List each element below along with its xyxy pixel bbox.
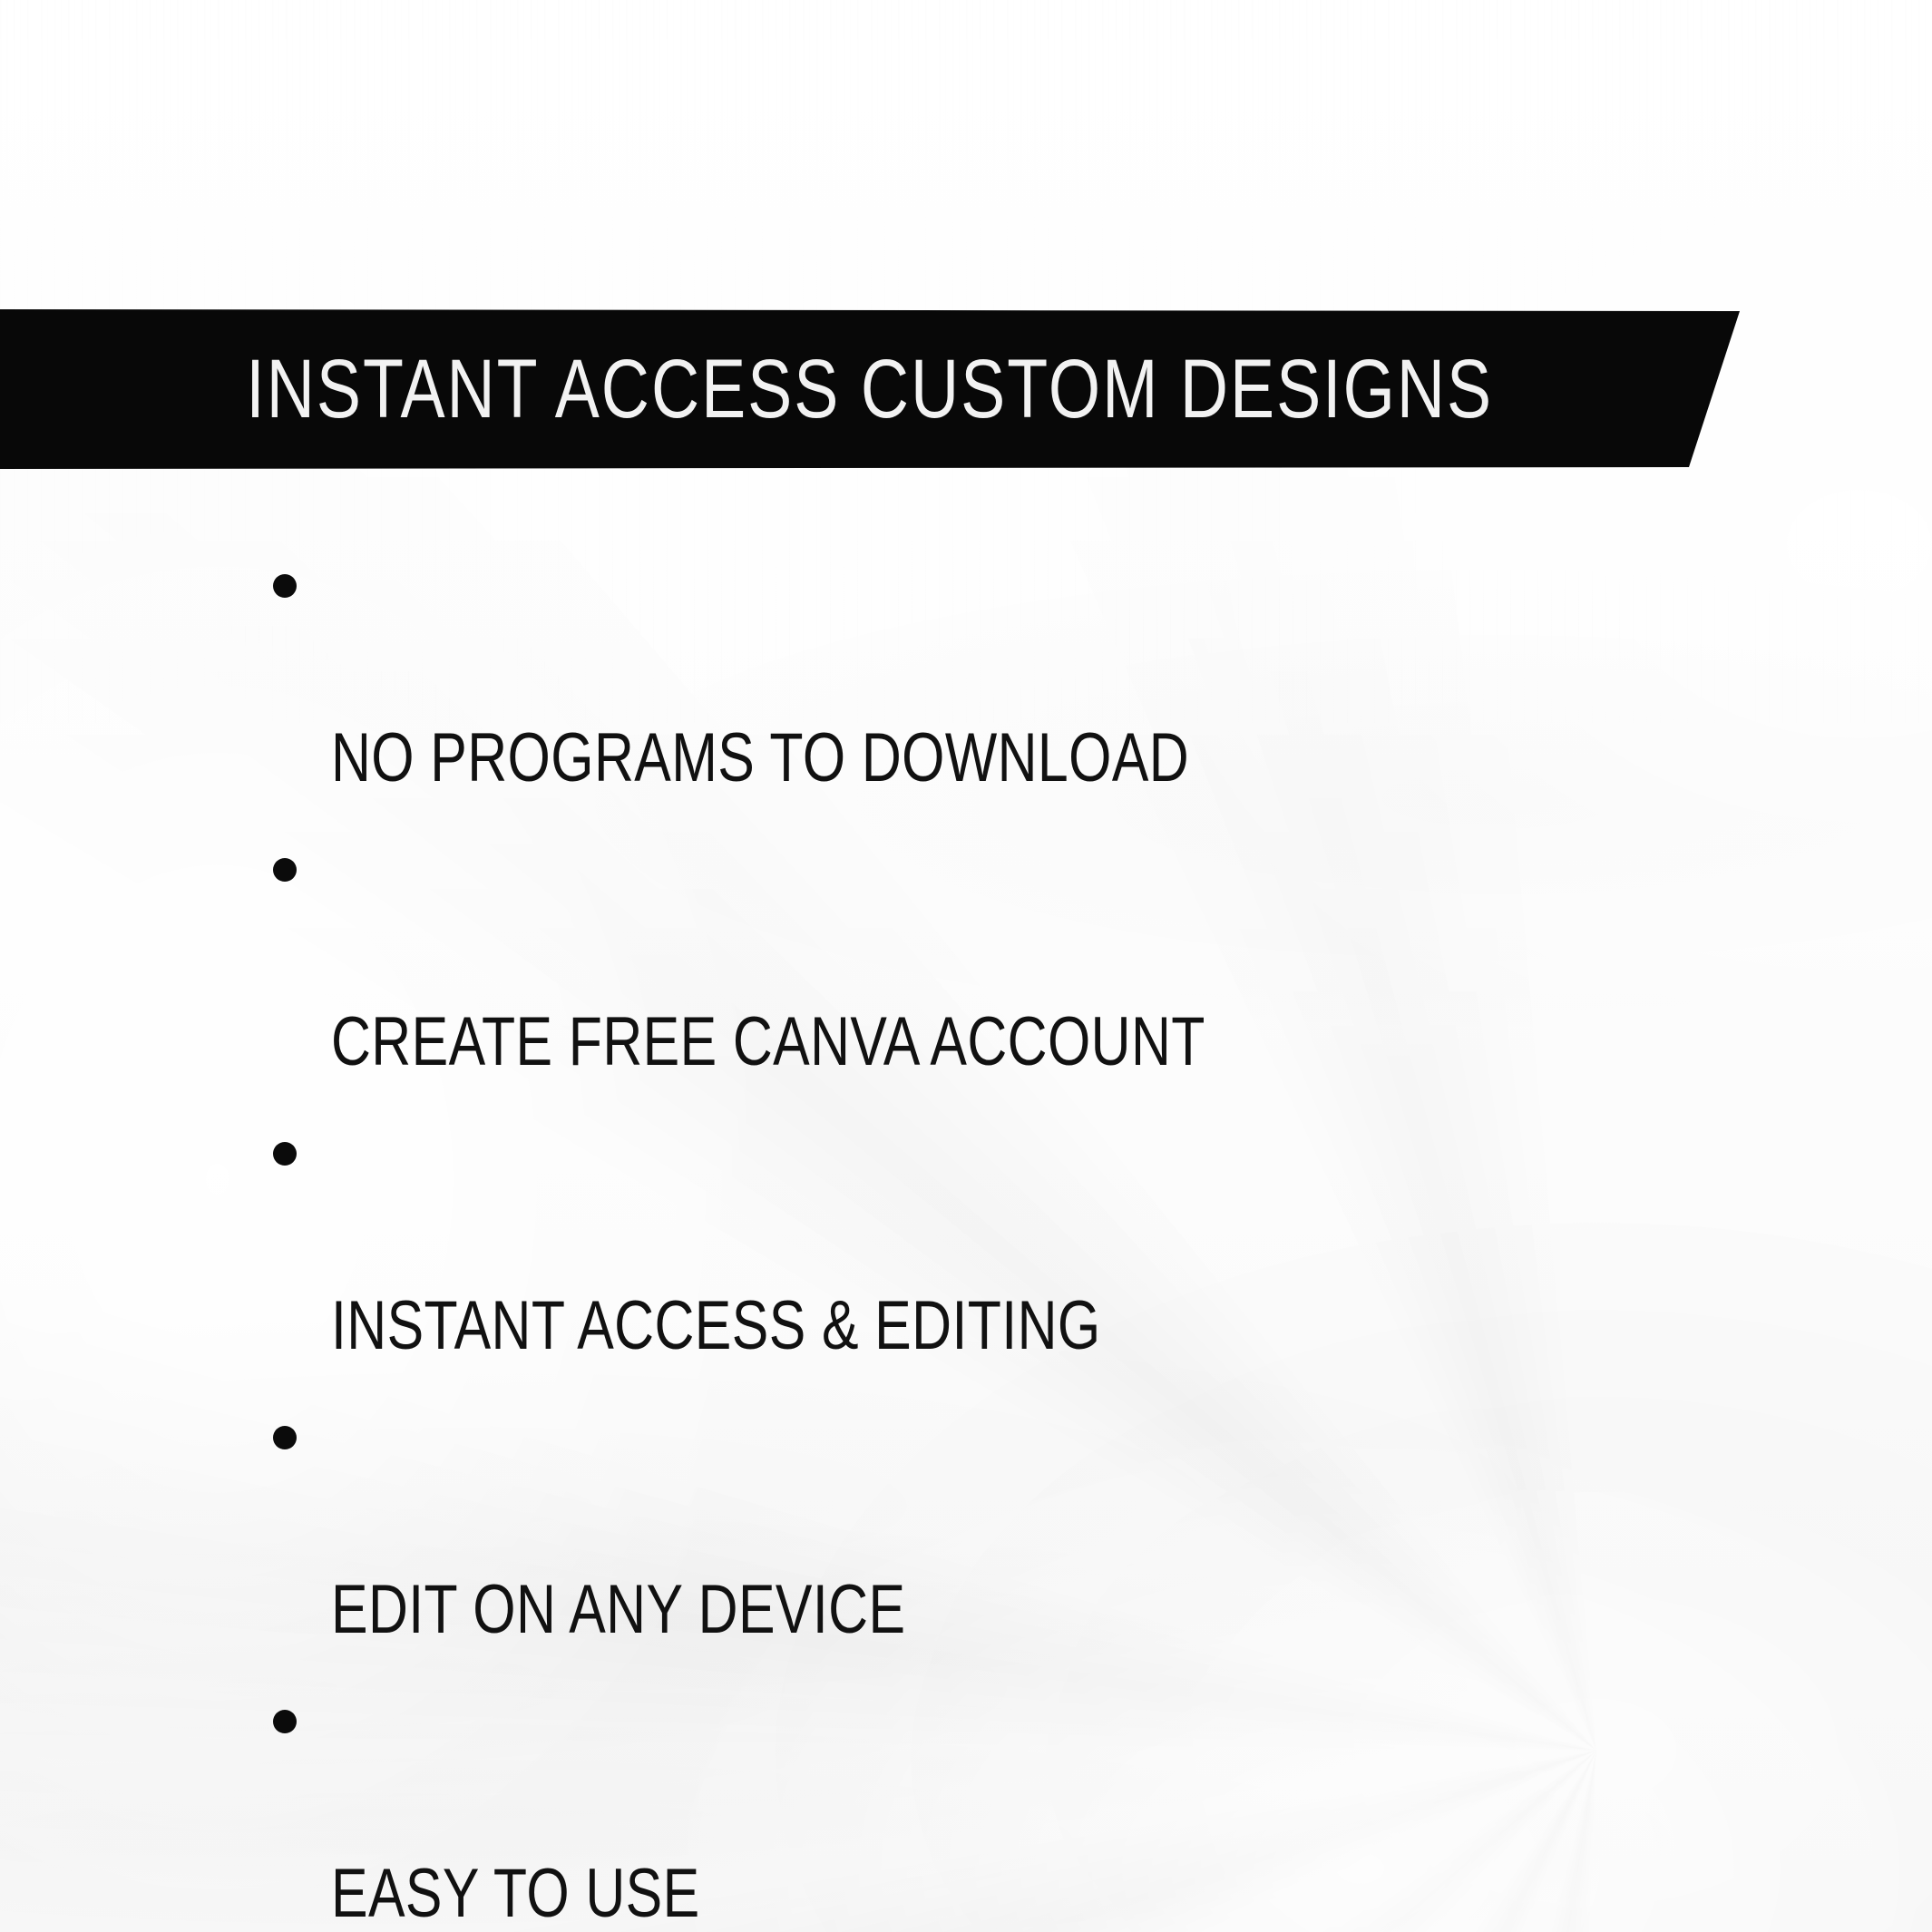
- list-item-label: CREATE FREE CANVA ACCOUNT: [331, 999, 1708, 1085]
- page-title: INSTANT ACCESS CUSTOM DESIGNS: [246, 347, 1493, 431]
- list-item-label: NO PROGRAMS TO DOWNLOAD: [331, 715, 1708, 801]
- list-item: INSTANT ACCESS & EDITING: [257, 1110, 1708, 1369]
- list-item-label: EASY TO USE: [331, 1850, 1708, 1932]
- bullet-dot-icon: [273, 1142, 297, 1166]
- list-item: CREATE FREE CANVA ACCOUNT: [257, 826, 1708, 1085]
- listing-graphic: INSTANT ACCESS CUSTOM DESIGNS NO PROGRAM…: [0, 0, 1932, 1932]
- list-item: NO PROGRAMS TO DOWNLOAD: [257, 542, 1708, 801]
- bullet-dot-icon: [273, 574, 297, 598]
- title-banner: INSTANT ACCESS CUSTOM DESIGNS: [0, 309, 1742, 469]
- list-item: EASY TO USE: [257, 1678, 1708, 1932]
- list-item-label: EDIT ON ANY DEVICE: [331, 1566, 1708, 1653]
- bullet-dot-icon: [273, 1426, 297, 1449]
- list-item-label: INSTANT ACCESS & EDITING: [331, 1283, 1708, 1369]
- bullet-dot-icon: [273, 1710, 297, 1733]
- list-item: EDIT ON ANY DEVICE: [257, 1394, 1708, 1653]
- bullet-dot-icon: [273, 858, 297, 882]
- feature-list: NO PROGRAMS TO DOWNLOAD CREATE FREE CANV…: [257, 542, 1708, 1932]
